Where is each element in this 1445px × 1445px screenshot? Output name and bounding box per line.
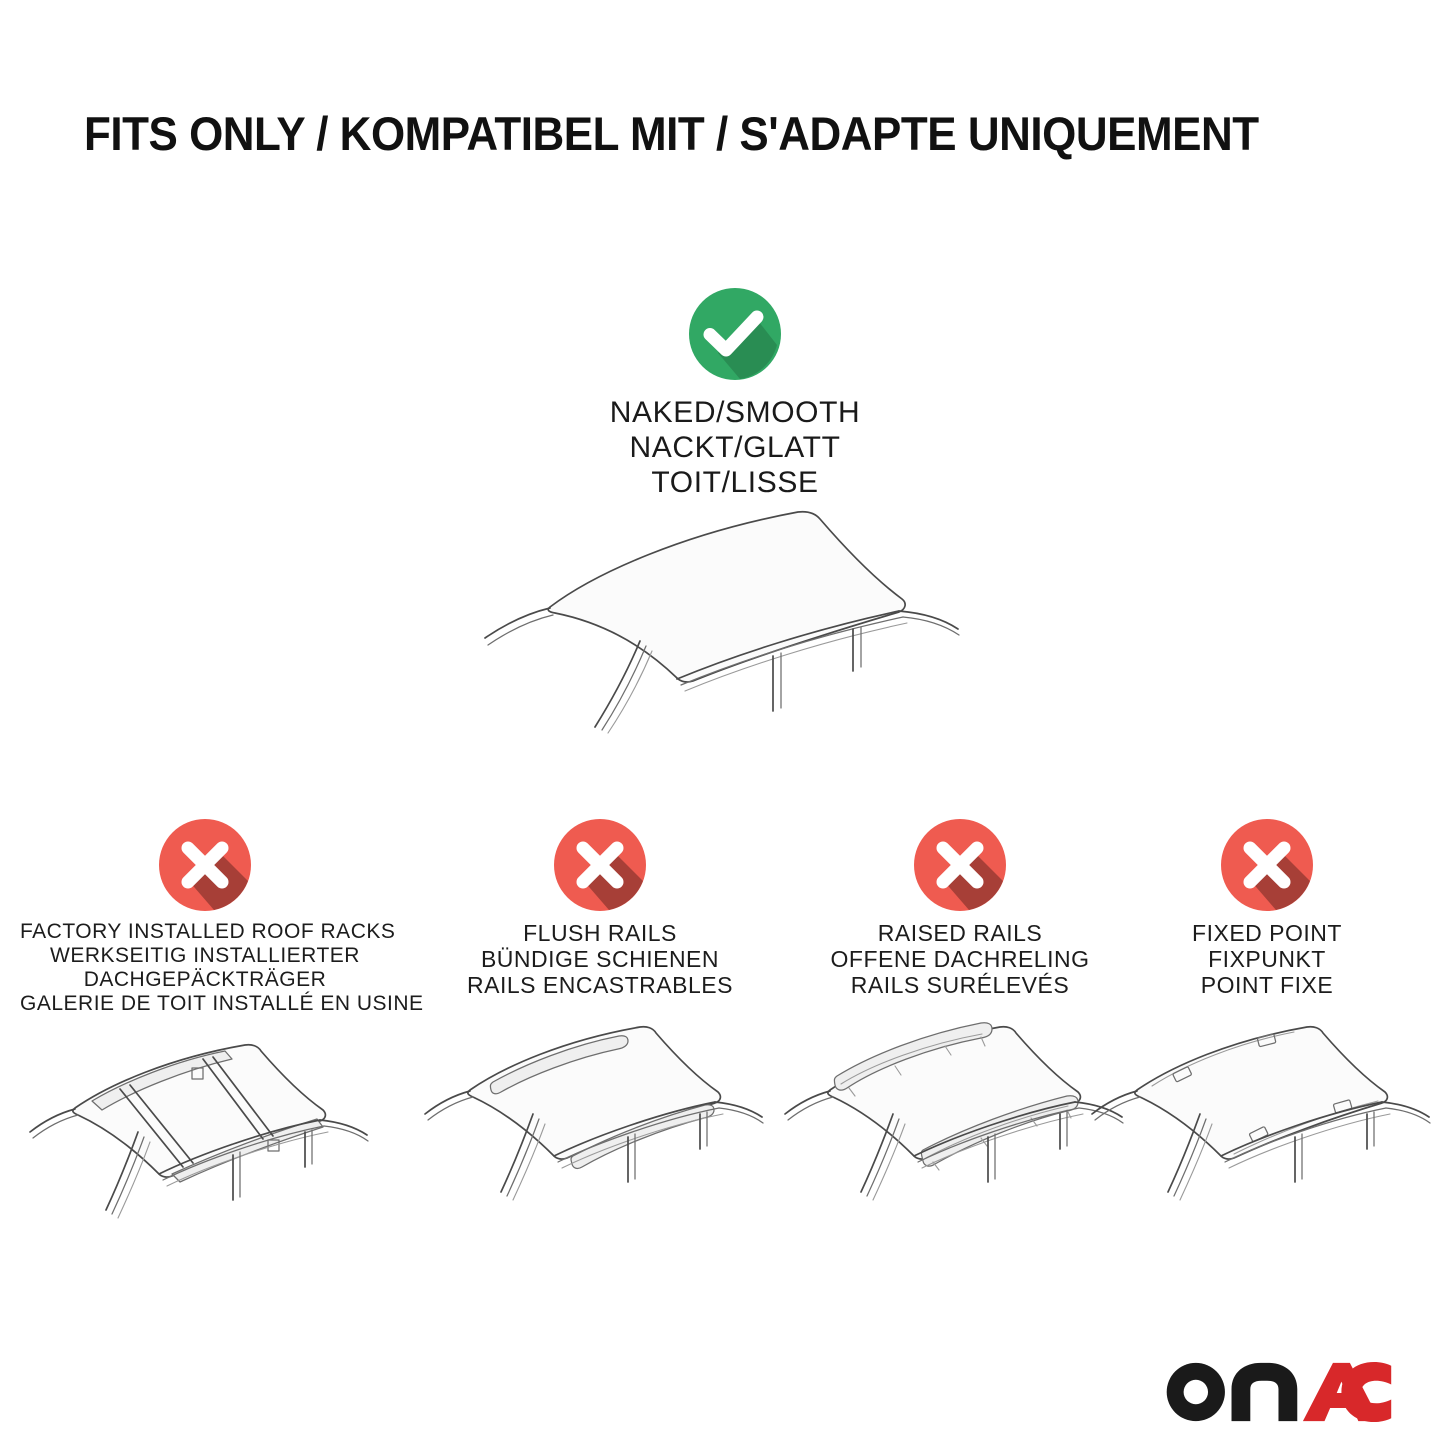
incompatible-row: FACTORY INSTALLED ROOF RACKS WERKSEITIG … bbox=[0, 818, 1445, 1238]
compatible-label-stack: NAKED/SMOOTH NACKT/GLATT TOIT/LISSE bbox=[500, 395, 970, 500]
incompatible-label-en: FLUSH RAILS bbox=[415, 920, 785, 946]
incompatible-item-flush-rails: FLUSH RAILS BÜNDIGE SCHIENEN RAILS ENCAS… bbox=[415, 818, 785, 1225]
incompatible-label-stack: FIXED POINT FIXPUNKT POINT FIXE bbox=[1082, 920, 1445, 998]
cross-circle-icon bbox=[913, 818, 1007, 912]
car-roof-factory-racks-illustration bbox=[20, 1028, 390, 1243]
incompatible-label-fr: POINT FIXE bbox=[1082, 972, 1445, 998]
cross-circle-icon bbox=[553, 818, 647, 912]
check-circle-icon bbox=[688, 287, 782, 381]
incompatible-label-fr: GALERIE DE TOIT INSTALLÉ EN USINE bbox=[20, 992, 390, 1016]
cross-circle-icon bbox=[1220, 818, 1314, 912]
compatible-label-de: NACKT/GLATT bbox=[500, 430, 970, 465]
incompatible-label-de: BÜNDIGE SCHIENEN bbox=[415, 946, 785, 972]
incompatible-label-de: FIXPUNKT bbox=[1082, 946, 1445, 972]
car-roof-fixed-point-illustration bbox=[1082, 1010, 1445, 1225]
incompatible-label-en: FACTORY INSTALLED ROOF RACKS bbox=[20, 920, 390, 944]
incompatible-label-stack: FLUSH RAILS BÜNDIGE SCHIENEN RAILS ENCAS… bbox=[415, 920, 785, 998]
car-roof-naked-smooth-illustration bbox=[455, 495, 1015, 755]
incompatible-label-fr: RAILS ENCASTRABLES bbox=[415, 972, 785, 998]
compatible-label-en: NAKED/SMOOTH bbox=[500, 395, 970, 430]
omac-logo bbox=[1162, 1361, 1397, 1423]
compatible-block: NAKED/SMOOTH NACKT/GLATT TOIT/LISSE bbox=[500, 287, 970, 500]
incompatible-label-de-2: DACHGEPÄCKTRÄGER bbox=[20, 968, 390, 992]
page-title: FITS ONLY / KOMPATIBEL MIT / S'ADAPTE UN… bbox=[84, 106, 1290, 162]
incompatible-label-en: FIXED POINT bbox=[1082, 920, 1445, 946]
cross-circle-icon bbox=[158, 818, 252, 912]
compatibility-chart-page: FITS ONLY / KOMPATIBEL MIT / S'ADAPTE UN… bbox=[0, 0, 1445, 1445]
incompatible-label-de-1: WERKSEITIG INSTALLIERTER bbox=[20, 944, 390, 968]
incompatible-item-factory-racks: FACTORY INSTALLED ROOF RACKS WERKSEITIG … bbox=[20, 818, 390, 1243]
incompatible-label-stack: FACTORY INSTALLED ROOF RACKS WERKSEITIG … bbox=[20, 920, 390, 1016]
car-roof-flush-rails-illustration bbox=[415, 1010, 785, 1225]
incompatible-item-fixed-point: FIXED POINT FIXPUNKT POINT FIXE bbox=[1082, 818, 1445, 1225]
